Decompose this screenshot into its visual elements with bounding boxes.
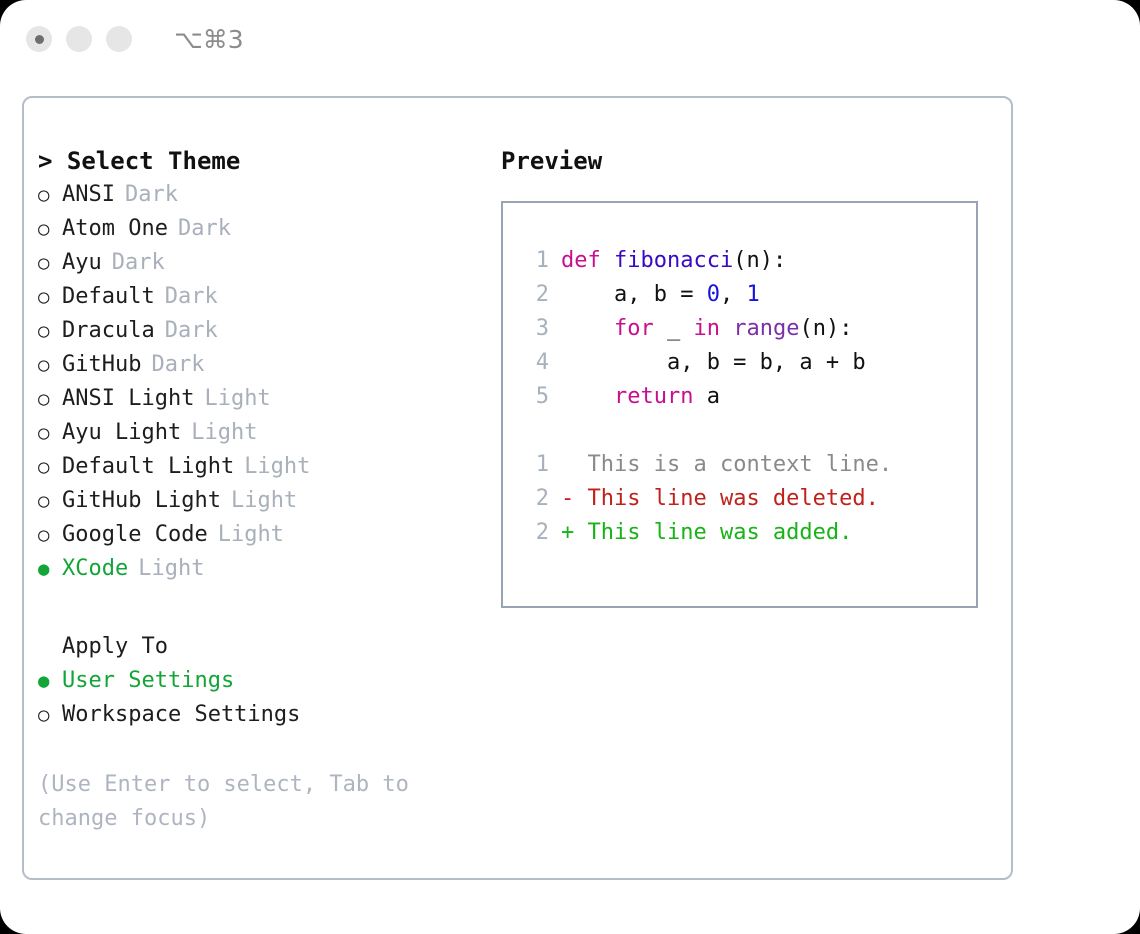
main-panel: > Select Theme ○ANSIDark○Atom OneDark○Ay…	[22, 96, 1013, 880]
code-token-num: 1	[746, 282, 759, 307]
apply-to-item[interactable]: ○Workspace Settings	[38, 698, 490, 732]
code-line-content: for _ in range(n):	[561, 312, 852, 346]
theme-list-item[interactable]: ○DefaultDark	[38, 280, 490, 314]
apply-to-heading-indent	[38, 630, 62, 664]
theme-variant-tag: Dark	[151, 348, 204, 382]
code-token-txt	[561, 316, 614, 341]
diff-line-content: - This line was deleted.	[561, 482, 879, 516]
line-number: 5	[519, 380, 549, 414]
theme-variant-tag: Dark	[125, 178, 178, 212]
radio-unselected-icon: ○	[38, 178, 62, 212]
radio-unselected-icon: ○	[38, 698, 62, 732]
theme-list-item[interactable]: ○Ayu LightLight	[38, 416, 490, 450]
theme-variant-tag: Dark	[178, 212, 231, 246]
diff-text: This is a context line.	[588, 452, 893, 477]
code-token-txt: a, b = b, a + b	[561, 350, 866, 375]
code-line: 5 return a	[519, 380, 976, 414]
radio-unselected-icon: ○	[38, 212, 62, 246]
code-line-content: return a	[561, 380, 720, 414]
code-token-txt: (n):	[799, 316, 852, 341]
list-gap	[38, 586, 490, 630]
theme-name-label: Ayu	[62, 246, 102, 280]
code-token-fn: fibonacci	[614, 248, 733, 273]
theme-list-item[interactable]: ○ANSI LightLight	[38, 382, 490, 416]
theme-list-item[interactable]: ●XCodeLight	[38, 552, 490, 586]
theme-list-item[interactable]: ○AyuDark	[38, 246, 490, 280]
radio-unselected-icon: ○	[38, 348, 62, 382]
traffic-dot-three[interactable]	[106, 26, 132, 52]
theme-variant-tag: Dark	[165, 280, 218, 314]
preview-column: Preview 1def fibonacci(n):2 a, b = 0, 13…	[490, 98, 1011, 878]
diff-line-number: 2	[519, 516, 549, 550]
diff-line: 1 This is a context line.	[519, 448, 976, 482]
app-window: ⌥⌘3 > Select Theme ○ANSIDark○Atom OneDar…	[0, 0, 1140, 934]
apply-to-heading: Apply To	[38, 630, 490, 664]
line-number: 2	[519, 278, 549, 312]
code-sample: 1def fibonacci(n):2 a, b = 0, 13 for _ i…	[519, 244, 976, 414]
diff-line: 2- This line was deleted.	[519, 482, 976, 516]
theme-variant-tag: Light	[138, 552, 204, 586]
radio-selected-icon: ●	[38, 552, 62, 586]
select-theme-heading: > Select Theme	[38, 144, 490, 178]
radio-unselected-icon: ○	[38, 518, 62, 552]
diff-text: This line was deleted.	[588, 486, 879, 511]
theme-name-label: Dracula	[62, 314, 155, 348]
theme-list-item[interactable]: ○DraculaDark	[38, 314, 490, 348]
theme-name-label: Default	[62, 280, 155, 314]
diff-marker-del: -	[561, 486, 588, 511]
diff-sample: 1 This is a context line.2- This line wa…	[519, 448, 976, 550]
code-token-call: range	[733, 316, 799, 341]
theme-name-label: Google Code	[62, 518, 208, 552]
line-number: 1	[519, 244, 549, 278]
hint-gap	[38, 732, 490, 768]
diff-marker-ctx	[561, 452, 588, 477]
theme-name-label: XCode	[62, 552, 128, 586]
code-line: 3 for _ in range(n):	[519, 312, 976, 346]
code-line-content: a, b = 0, 1	[561, 278, 760, 312]
theme-name-label: Ayu Light	[62, 416, 181, 450]
diff-line-number: 1	[519, 448, 549, 482]
radio-unselected-icon: ○	[38, 280, 62, 314]
theme-name-label: GitHub Light	[62, 484, 221, 518]
apply-to-heading-label: Apply To	[62, 630, 168, 664]
code-token-num: 0	[707, 282, 720, 307]
theme-variant-tag: Light	[191, 416, 257, 450]
code-token-txt: a, b =	[561, 282, 707, 307]
theme-name-label: GitHub	[62, 348, 141, 382]
code-token-txt: _	[654, 316, 694, 341]
radio-unselected-icon: ○	[38, 484, 62, 518]
radio-unselected-icon: ○	[38, 450, 62, 484]
code-token-kw: def	[561, 248, 614, 273]
keyboard-shortcut-label: ⌥⌘3	[174, 25, 244, 54]
code-line-content: def fibonacci(n):	[561, 244, 786, 278]
code-token-txt: ,	[720, 282, 747, 307]
preview-heading: Preview	[501, 144, 1011, 178]
theme-list-item[interactable]: ○Atom OneDark	[38, 212, 490, 246]
theme-name-label: Default Light	[62, 450, 234, 484]
theme-list[interactable]: ○ANSIDark○Atom OneDark○AyuDark○DefaultDa…	[38, 178, 490, 586]
theme-name-label: Atom One	[62, 212, 168, 246]
radio-unselected-icon: ○	[38, 382, 62, 416]
apply-to-list[interactable]: ●User Settings○Workspace Settings	[38, 664, 490, 732]
radio-unselected-icon: ○	[38, 416, 62, 450]
code-line: 1def fibonacci(n):	[519, 244, 976, 278]
radio-selected-icon: ●	[38, 664, 62, 698]
theme-name-label: ANSI Light	[62, 382, 194, 416]
theme-variant-tag: Light	[204, 382, 270, 416]
diff-line-content: + This line was added.	[561, 516, 852, 550]
code-line: 2 a, b = 0, 1	[519, 278, 976, 312]
theme-list-item[interactable]: ○GitHub LightLight	[38, 484, 490, 518]
radio-unselected-icon: ○	[38, 314, 62, 348]
theme-variant-tag: Dark	[112, 246, 165, 280]
diff-line-content: This is a context line.	[561, 448, 892, 482]
code-token-kw: for	[614, 316, 654, 341]
code-token-txt: (n):	[733, 248, 786, 273]
theme-name-label: ANSI	[62, 178, 115, 212]
diff-line-number: 2	[519, 482, 549, 516]
window-titlebar: ⌥⌘3	[0, 0, 1140, 78]
apply-to-label: User Settings	[62, 664, 234, 698]
theme-variant-tag: Light	[244, 450, 310, 484]
code-token-txt	[561, 384, 614, 409]
apply-to-label: Workspace Settings	[62, 698, 300, 732]
code-line: 4 a, b = b, a + b	[519, 346, 976, 380]
diff-text: This line was added.	[588, 520, 853, 545]
theme-list-item[interactable]: ○GitHubDark	[38, 348, 490, 382]
traffic-dot-active[interactable]	[26, 26, 52, 52]
panel-columns: > Select Theme ○ANSIDark○Atom OneDark○Ay…	[24, 98, 1011, 878]
theme-list-item[interactable]: ○Google CodeLight	[38, 518, 490, 552]
apply-to-item[interactable]: ●User Settings	[38, 664, 490, 698]
theme-variant-tag: Light	[218, 518, 284, 552]
preview-box: 1def fibonacci(n):2 a, b = 0, 13 for _ i…	[501, 201, 978, 608]
traffic-dot-two[interactable]	[66, 26, 92, 52]
theme-selection-column: > Select Theme ○ANSIDark○Atom OneDark○Ay…	[24, 98, 490, 878]
theme-list-item[interactable]: ○Default LightLight	[38, 450, 490, 484]
code-token-txt	[720, 316, 733, 341]
theme-list-item[interactable]: ○ANSIDark	[38, 178, 490, 212]
diff-line: 2+ This line was added.	[519, 516, 976, 550]
traffic-dot-active-indicator	[35, 35, 44, 44]
code-line-content: a, b = b, a + b	[561, 346, 866, 380]
line-number: 4	[519, 346, 549, 380]
code-token-txt: a	[693, 384, 720, 409]
radio-unselected-icon: ○	[38, 246, 62, 280]
code-token-kw: return	[614, 384, 693, 409]
keyboard-hint-text: (Use Enter to select, Tab to change focu…	[38, 768, 458, 836]
diff-marker-add: +	[561, 520, 588, 545]
theme-variant-tag: Dark	[165, 314, 218, 348]
theme-variant-tag: Light	[231, 484, 297, 518]
code-diff-separator	[519, 414, 976, 448]
code-token-kw: in	[693, 316, 720, 341]
line-number: 3	[519, 312, 549, 346]
